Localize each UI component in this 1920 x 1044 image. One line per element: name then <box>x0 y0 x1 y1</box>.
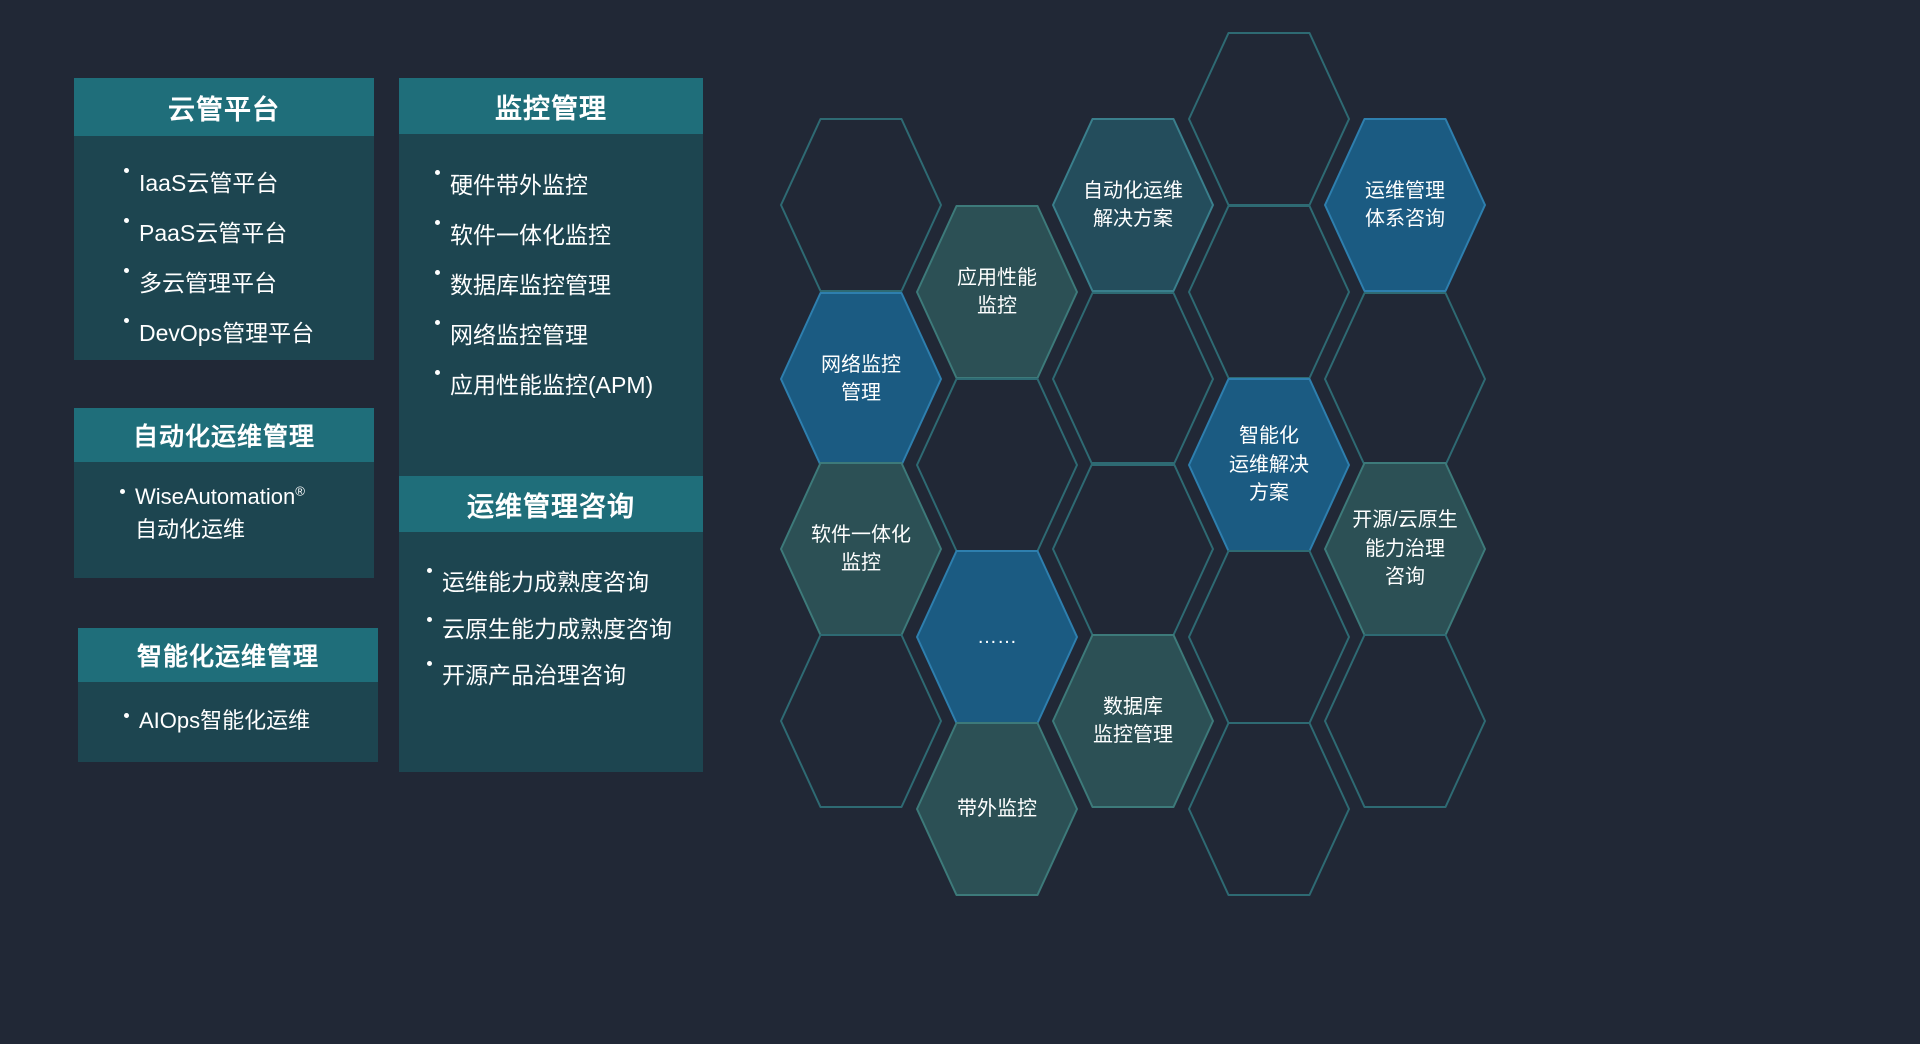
bullet-icon <box>427 661 432 666</box>
list-item[interactable]: 运维能力成熟度咨询 <box>399 558 703 607</box>
card-title: 自动化运维管理 <box>74 408 374 462</box>
bullet-icon <box>435 170 440 175</box>
hexagon-cell <box>1324 634 1486 808</box>
bullet-icon <box>120 489 125 494</box>
card-item-list: IaaS云管平台 PaaS云管平台 多云管理平台 DevOps管理平台 <box>74 158 374 358</box>
list-item-label: 应用性能监控(APM) <box>450 360 703 410</box>
list-item-label: 多云管理平台 <box>139 258 374 308</box>
list-item[interactable]: 多云管理平台 <box>74 258 374 308</box>
bullet-icon <box>124 713 129 718</box>
list-item-label: 开源产品治理咨询 <box>442 651 703 700</box>
list-item[interactable]: 软件一体化监控 <box>399 210 703 260</box>
hexagon-cell <box>1324 292 1486 466</box>
bullet-icon <box>427 617 432 622</box>
list-item-label: PaaS云管平台 <box>139 208 374 258</box>
list-item-label: AIOps智能化运维 <box>139 704 378 737</box>
card-body: IaaS云管平台 PaaS云管平台 多云管理平台 DevOps管理平台 <box>74 136 374 360</box>
list-item[interactable]: 硬件带外监控 <box>399 160 703 210</box>
list-item[interactable]: 开源产品治理咨询 <box>399 651 703 700</box>
product-name: WiseAutomation <box>135 484 295 509</box>
card-item-list: WiseAutomation®自动化运维 <box>74 480 374 546</box>
list-item[interactable]: DevOps管理平台 <box>74 308 374 358</box>
hexagon-shape <box>1324 292 1486 466</box>
hexagon-cell[interactable]: 开源/云原生能力治理咨询 <box>1324 462 1486 636</box>
bullet-icon <box>124 268 129 273</box>
list-item[interactable]: PaaS云管平台 <box>74 208 374 258</box>
bullet-icon <box>124 218 129 223</box>
card-body: WiseAutomation®自动化运维 <box>74 462 374 578</box>
hexagon-shape <box>1324 634 1486 808</box>
card-body: 运维能力成熟度咨询 云原生能力成熟度咨询 开源产品治理咨询 <box>399 532 703 772</box>
list-item-label: 硬件带外监控 <box>450 160 703 210</box>
card-cloud-platform[interactable]: 云管平台 IaaS云管平台 PaaS云管平台 多云管理平台 <box>74 78 374 360</box>
list-item-label: WiseAutomation®自动化运维 <box>135 480 374 546</box>
card-body: AIOps智能化运维 <box>78 682 378 762</box>
product-subtitle: 自动化运维 <box>135 517 245 542</box>
card-title: 云管平台 <box>74 78 374 136</box>
list-item-label: 软件一体化监控 <box>450 210 703 260</box>
list-item[interactable]: 应用性能监控(APM) <box>399 360 703 410</box>
card-aiops-management[interactable]: 智能化运维管理 AIOps智能化运维 <box>78 628 378 762</box>
card-automation-management[interactable]: 自动化运维管理 WiseAutomation®自动化运维 <box>74 408 374 578</box>
registered-mark: ® <box>295 484 305 499</box>
hexagon-shape <box>1324 118 1486 292</box>
card-title: 运维管理咨询 <box>399 476 703 532</box>
list-item-label: 运维能力成熟度咨询 <box>442 558 703 607</box>
card-title: 监控管理 <box>399 78 703 134</box>
bullet-icon <box>435 320 440 325</box>
list-item[interactable]: IaaS云管平台 <box>74 158 374 208</box>
card-body: 硬件带外监控 软件一体化监控 数据库监控管理 网络监控管理 <box>399 134 703 509</box>
card-item-list: 硬件带外监控 软件一体化监控 数据库监控管理 网络监控管理 <box>399 160 703 410</box>
card-ops-consulting[interactable]: 运维管理咨询 运维能力成熟度咨询 云原生能力成熟度咨询 开源产品治理咨询 <box>399 476 703 772</box>
hexagon-honeycomb: 网络监控管理软件一体化监控应用性能监控……带外监控自动化运维解决方案数据库监控管… <box>760 0 1920 1044</box>
list-item[interactable]: WiseAutomation®自动化运维 <box>74 480 374 546</box>
list-item-label: 数据库监控管理 <box>450 260 703 310</box>
list-item[interactable]: 云原生能力成熟度咨询 <box>399 607 703 651</box>
list-item-label: DevOps管理平台 <box>139 308 374 358</box>
list-item[interactable]: 网络监控管理 <box>399 310 703 360</box>
list-item-label: 网络监控管理 <box>450 310 703 360</box>
list-item[interactable]: 数据库监控管理 <box>399 260 703 310</box>
list-item[interactable]: AIOps智能化运维 <box>78 704 378 737</box>
bullet-icon <box>124 168 129 173</box>
bullet-icon <box>427 568 432 573</box>
card-monitoring-management[interactable]: 监控管理 硬件带外监控 软件一体化监控 数据库监控管理 <box>399 78 703 509</box>
card-title: 智能化运维管理 <box>78 628 378 682</box>
slide-canvas: 云管平台 IaaS云管平台 PaaS云管平台 多云管理平台 <box>0 0 1920 1044</box>
list-item-label: IaaS云管平台 <box>139 158 374 208</box>
hexagon-cell[interactable]: 运维管理体系咨询 <box>1324 118 1486 292</box>
bullet-icon <box>435 220 440 225</box>
hexagon-shape <box>1324 462 1486 636</box>
bullet-icon <box>435 370 440 375</box>
list-item-label: 云原生能力成熟度咨询 <box>442 607 703 651</box>
card-item-list: AIOps智能化运维 <box>78 704 378 737</box>
bullet-icon <box>435 270 440 275</box>
card-item-list: 运维能力成熟度咨询 云原生能力成熟度咨询 开源产品治理咨询 <box>399 558 703 700</box>
bullet-icon <box>124 318 129 323</box>
